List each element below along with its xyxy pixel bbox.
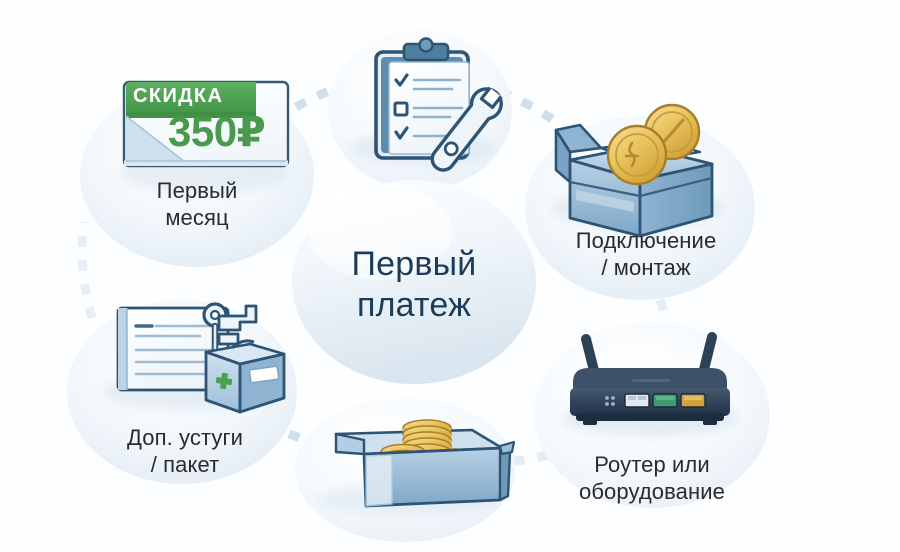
label-first-month: Первый месяц (112, 178, 282, 232)
document-key-kit-icon (104, 304, 284, 412)
first-aid-kit-icon (206, 341, 284, 412)
center-title: Первый платеж (300, 244, 528, 326)
connector-6 (82, 222, 92, 318)
router-ports (625, 394, 705, 407)
label-router-equipment: Роутер или оборудование (547, 452, 757, 506)
label-extra-services: Доп. устуги / пакет (85, 425, 285, 479)
label-connection-mounting: Подключение / монтаж (545, 228, 747, 282)
infographic-canvas: Первый месяц Подключение / монтаж Роутер… (0, 0, 900, 552)
discount-badge-text: СКИДКА (133, 82, 253, 111)
discount-amount-text: 350₽ (168, 108, 288, 156)
